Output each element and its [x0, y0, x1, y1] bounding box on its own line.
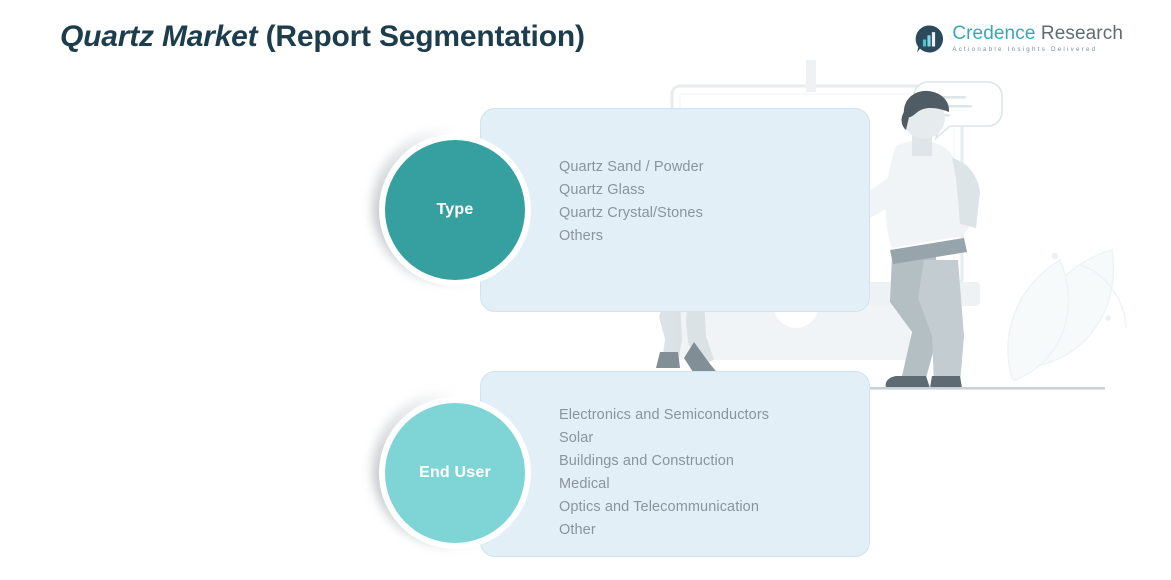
- list-item: Quartz Glass: [559, 179, 704, 202]
- list-item: Solar: [559, 427, 769, 450]
- segment-circle-end-user[interactable]: End User: [385, 403, 525, 543]
- segment-circle-type[interactable]: Type: [385, 140, 525, 280]
- segment-circle-label: End User: [419, 464, 491, 482]
- segment-item-list-end-user: Electronics and Semiconductors Solar Bui…: [559, 404, 769, 542]
- segment-item-list-type: Quartz Sand / Powder Quartz Glass Quartz…: [559, 156, 704, 248]
- brand-word-research: Research: [1036, 23, 1124, 44]
- segment-panel-type: Quartz Sand / Powder Quartz Glass Quartz…: [480, 108, 870, 312]
- brand-tagline: Actionable Insights Delivered: [952, 47, 1123, 53]
- brand-logo[interactable]: Credence Research Actionable Insights De…: [914, 24, 1123, 54]
- list-item: Quartz Sand / Powder: [559, 156, 704, 179]
- page-title: Quartz Market (Report Segmentation): [60, 20, 585, 54]
- infographic-canvas: Quartz Market (Report Segmentation) Cred…: [0, 0, 1171, 580]
- list-item: Optics and Telecommunication: [559, 496, 769, 519]
- credence-bar-chart-bubble-icon: [914, 24, 944, 54]
- page-title-italic: Quartz Market: [60, 20, 266, 53]
- list-item: Buildings and Construction: [559, 450, 769, 473]
- brand-logo-wordmark: Credence Research: [952, 24, 1123, 43]
- list-item: Quartz Crystal/Stones: [559, 202, 704, 225]
- list-item: Electronics and Semiconductors: [559, 404, 769, 427]
- segment-panel-end-user: Electronics and Semiconductors Solar Bui…: [480, 371, 870, 557]
- page-title-regular: (Report Segmentation): [266, 20, 585, 53]
- segment-circle-label: Type: [437, 201, 474, 219]
- list-item: Medical: [559, 473, 769, 496]
- brand-logo-text: Credence Research Actionable Insights De…: [952, 24, 1123, 53]
- brand-word-credence: Credence: [952, 23, 1035, 44]
- list-item: Others: [559, 225, 704, 248]
- list-item: Other: [559, 519, 769, 542]
